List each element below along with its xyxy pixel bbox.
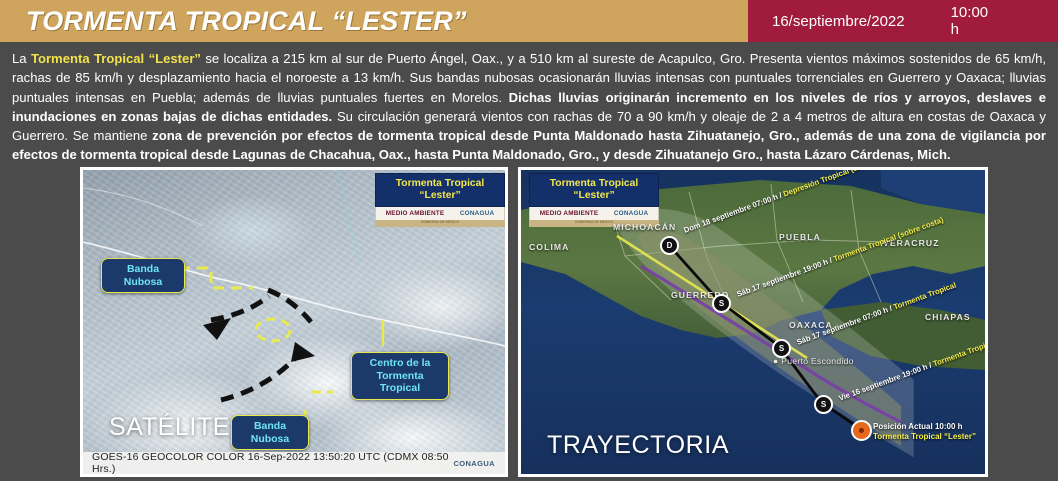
conagua-logo: CONAGUA	[614, 210, 648, 217]
callout-banda-nubosa-2: Banda Nubosa	[231, 415, 309, 450]
current-position-line1: Posición Actual 10:00 h	[873, 422, 976, 432]
state-label-colima: COLIMA	[529, 242, 570, 252]
caption-conagua-text: CONAGUA	[453, 459, 495, 468]
track-node-3: S	[814, 395, 833, 414]
trajectory-panel-label: TRAYECTORIA	[547, 431, 729, 460]
callout-text: Banda Nubosa	[124, 263, 163, 288]
current-position-label: Posición Actual 10:00 hTormenta Tropical…	[873, 422, 976, 442]
bulletin-bold-2: zona de prevención por efectos de tormen…	[12, 128, 1046, 162]
header-bar: TORMENTA TROPICAL “LESTER” 16/septiembre…	[0, 0, 1058, 42]
brand-logos: MEDIO AMBIENTE CONAGUA	[529, 207, 659, 220]
bulletin-text: La Tormenta Tropical “Lester” se localiz…	[0, 42, 1058, 164]
satellite-caption-text: GOES-16 GEOCOLOR COLOR 16-Sep-2022 13:50…	[92, 451, 453, 474]
brand-title: Tormenta Tropical “Lester”	[529, 173, 659, 207]
trajectory-panel: Tormenta Tropical “Lester” MEDIO AMBIENT…	[518, 167, 988, 477]
brand-title-line1: Tormenta Tropical	[379, 178, 501, 190]
medio-ambiente-logo: MEDIO AMBIENTE	[386, 210, 445, 217]
callout-text: Centro de la Tormenta Tropical	[370, 357, 431, 394]
header-title-block: TORMENTA TROPICAL “LESTER”	[0, 0, 748, 42]
brand-title-line2: “Lester”	[533, 190, 655, 202]
bulletin-storm-name: Tormenta Tropical “Lester”	[31, 51, 201, 66]
header-date: 16/septiembre/2022	[772, 13, 905, 30]
conagua-logo: CONAGUA	[460, 210, 494, 217]
satellite-panel: Banda Nubosa Centro de la Tormenta Tropi…	[80, 167, 508, 477]
state-label-michoacn: MICHOACÁN	[613, 222, 676, 232]
conagua-brand-overlay-trajectory: Tormenta Tropical “Lester” MEDIO AMBIENT…	[529, 173, 659, 227]
state-label-puebla: PUEBLA	[779, 232, 821, 242]
brand-logos: MEDIO AMBIENTE CONAGUA	[375, 207, 505, 220]
callout-banda-nubosa-1: Banda Nubosa	[101, 258, 185, 293]
medio-ambiente-logo: MEDIO AMBIENTE	[540, 210, 599, 217]
brand-strip: GOBIERNO DE MÉXICO	[375, 220, 505, 227]
satellite-panel-label: SATÉLITE	[109, 413, 230, 442]
city-label-puerto-escondido: ● Puerto Escondido	[773, 356, 854, 366]
caption-conagua-logo: CONAGUA	[453, 459, 495, 468]
header-meta-block: 16/septiembre/2022 10:00 h Océano Pacífi…	[748, 0, 1058, 42]
conagua-brand-overlay-satellite: Tormenta Tropical “Lester” MEDIO AMBIENT…	[375, 173, 505, 227]
brand-title-line2: “Lester”	[379, 190, 501, 202]
weather-bulletin-page: TORMENTA TROPICAL “LESTER” 16/septiembre…	[0, 0, 1058, 481]
track-node-0: D	[660, 236, 679, 255]
page-title: TORMENTA TROPICAL “LESTER”	[26, 6, 467, 37]
trajectory-map: Tormenta Tropical “Lester” MEDIO AMBIENT…	[521, 170, 985, 474]
track-node-1: S	[712, 294, 731, 313]
brand-title-line1: Tormenta Tropical	[533, 178, 655, 190]
bulletin-seg-1: La	[12, 51, 31, 66]
header-time: 10:00 h	[951, 4, 989, 38]
state-label-chiapas: CHIAPAS	[925, 312, 971, 322]
callout-centro-tormenta: Centro de la Tormenta Tropical	[351, 352, 449, 400]
satellite-image: Banda Nubosa Centro de la Tormenta Tropi…	[83, 170, 505, 474]
callout-text: Banda Nubosa	[251, 420, 290, 445]
current-position-marker	[851, 420, 872, 441]
brand-title: Tormenta Tropical “Lester”	[375, 173, 505, 207]
current-position-line2: Tormenta Tropical “Lester”	[873, 432, 976, 442]
satellite-caption-bar: GOES-16 GEOCOLOR COLOR 16-Sep-2022 13:50…	[83, 452, 505, 474]
